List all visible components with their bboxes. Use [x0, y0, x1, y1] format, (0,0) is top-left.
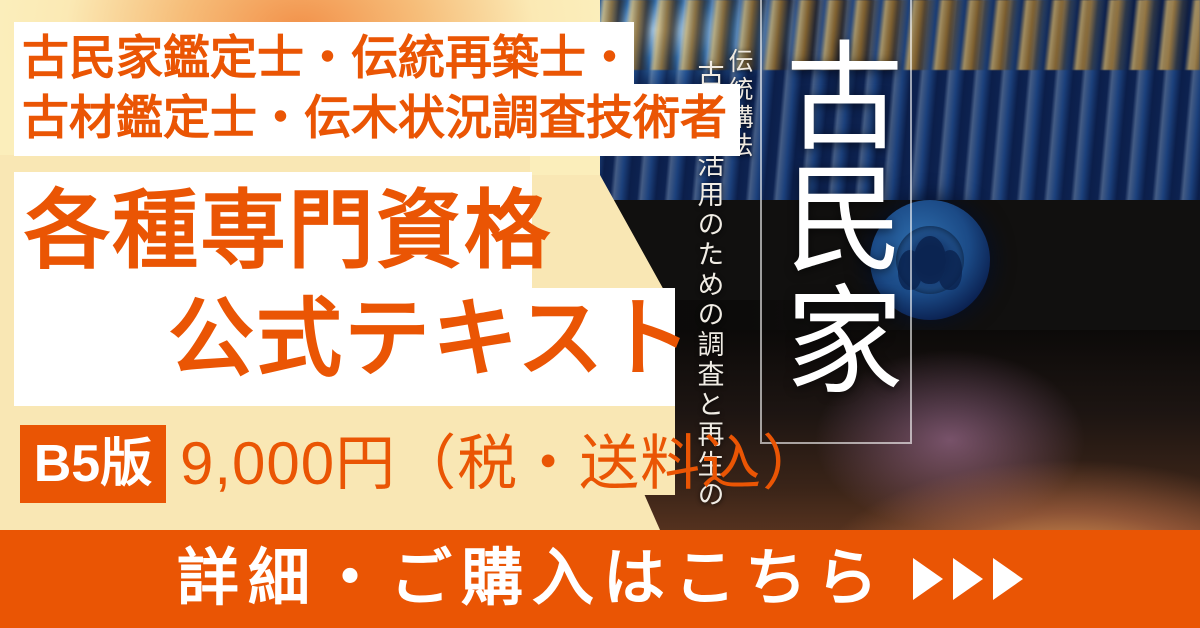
certifications-line-1: 古民家鑑定士・伝統再築士・: [22, 34, 633, 81]
triangle-right-icon: [913, 558, 943, 600]
cta-bar[interactable]: 詳細・ご購入はこちら: [0, 530, 1200, 628]
headline-line-2: 公式テキスト: [168, 296, 693, 382]
headline-line-1: 各種専門資格: [24, 188, 552, 274]
triangle-right-icon: [993, 558, 1023, 600]
certifications-line-2: 古材鑑定士・伝木状況調査技術者: [22, 94, 727, 141]
cover-title: 古民家: [770, 8, 902, 428]
triangle-right-icon: [953, 558, 983, 600]
price-text: 9,000円（税・送料込）: [180, 430, 823, 498]
size-badge: B5版: [20, 425, 166, 503]
cta-arrow-group: [913, 558, 1023, 600]
promo-banner: 古民家 伝統構法 古民家活用のための調査と再生の 古民家鑑定士・伝統再築士・ 古…: [0, 0, 1200, 628]
cta-label: 詳細・ご購入はこちら: [177, 548, 887, 610]
